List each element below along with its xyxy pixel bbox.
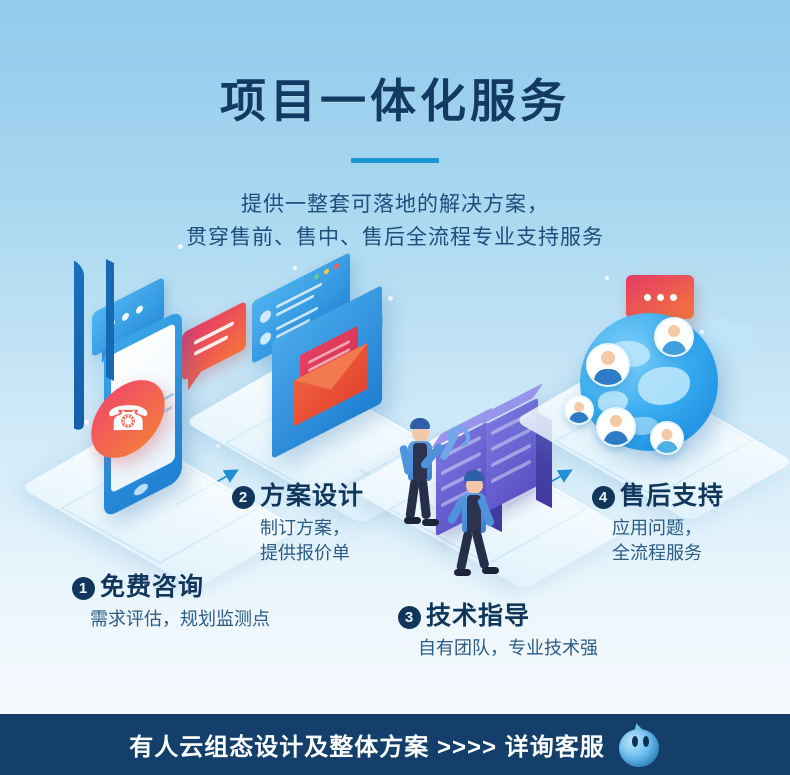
step-4-description: 应用问题， 全流程服务 — [592, 516, 724, 566]
step-desc-line: 制订方案， — [260, 516, 364, 541]
avatar — [654, 317, 694, 357]
step-2-title: 2方案设计 — [232, 482, 364, 511]
step-title-text: 技术指导 — [426, 602, 530, 630]
avatar — [596, 407, 636, 447]
step-4-title: 4售后支持 — [592, 482, 724, 511]
page-subtitle: 提供一整套可落地的解决方案， 贯穿售前、售中、售后全流程专业支持服务 — [0, 189, 790, 254]
step-title-text: 免费咨询 — [100, 573, 204, 601]
cta-bar[interactable]: 有人云组态设计及整体方案 >>>> 详询客服 — [0, 714, 790, 775]
step-1-title: 1免费咨询 — [72, 573, 270, 602]
service-process-poster: 项目一体化服务 提供一整套可落地的解决方案， 贯穿售前、售中、售后全流程专业支持… — [0, 0, 790, 775]
support-chat-bubble-icon — [626, 275, 694, 319]
step-number-badge: 1 — [72, 577, 95, 600]
title-divider — [351, 158, 439, 163]
step-3-caption: 3技术指导 自有团队，专业技术强 — [398, 602, 598, 661]
step-desc-line: 自有团队，专业技术强 — [418, 636, 598, 661]
step-3-description: 自有团队，专业技术强 — [398, 636, 598, 661]
cta-text[interactable]: 有人云组态设计及整体方案 >>>> 详询客服 — [129, 727, 604, 762]
step-3-title: 3技术指导 — [398, 602, 598, 631]
page-title: 项目一体化服务 — [0, 78, 790, 124]
subtitle-line-2: 贯穿售前、售中、售后全流程专业支持服务 — [0, 222, 790, 255]
step-number-badge: 4 — [592, 486, 615, 509]
step-desc-line: 应用问题， — [612, 516, 724, 541]
avatar — [650, 421, 684, 455]
step-title-text: 售后支持 — [620, 482, 724, 510]
avatar — [564, 395, 594, 425]
water-drop-mascot-icon — [619, 723, 661, 767]
monitor-edge — [106, 259, 114, 381]
step-4-caption: 4售后支持 应用问题， 全流程服务 — [592, 482, 724, 566]
step-desc-line: 全流程服务 — [612, 541, 724, 566]
poster-header: 项目一体化服务 提供一整套可落地的解决方案， 贯穿售前、售中、售后全流程专业支持… — [0, 78, 790, 254]
step-1-description: 需求评估，规划监测点 — [72, 607, 270, 632]
step-2-caption: 2方案设计 制订方案， 提供报价单 — [232, 482, 364, 566]
step-title-text: 方案设计 — [260, 482, 364, 510]
subtitle-line-1: 提供一整套可落地的解决方案， — [0, 189, 790, 222]
step-desc-line: 需求评估，规划监测点 — [90, 607, 270, 632]
step-number-badge: 2 — [232, 486, 255, 509]
smartphone-edge — [74, 260, 84, 433]
step-desc-line: 提供报价单 — [260, 541, 364, 566]
step-2-description: 制订方案， 提供报价单 — [232, 516, 364, 566]
step-1-caption: 1免费咨询 需求评估，规划监测点 — [72, 573, 270, 632]
step-number-badge: 3 — [398, 606, 421, 629]
avatar — [586, 343, 630, 387]
